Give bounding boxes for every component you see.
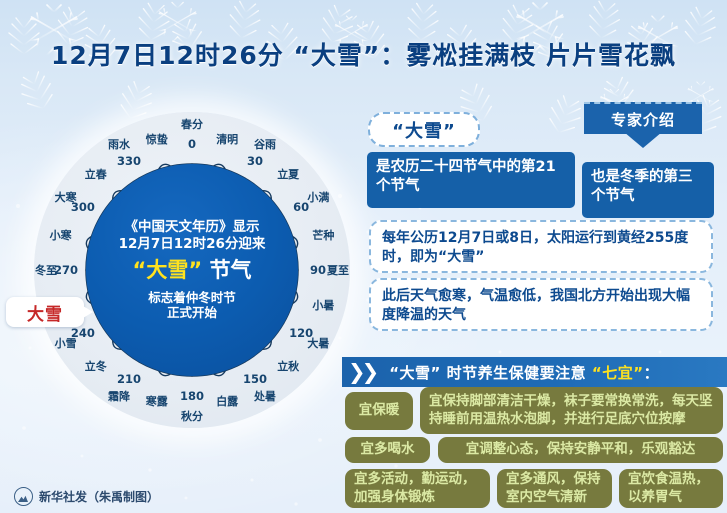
credit-block: 新华社发（朱禹制图）: [14, 487, 159, 506]
dial-degree-label: 330: [117, 154, 141, 168]
tip-text-2: 宜调整心态，保持安静平和，乐观豁达: [438, 437, 723, 463]
dial-center-headline-quoted: “大雪”: [133, 258, 203, 282]
dial-term-label: 立夏: [277, 166, 299, 182]
daxue-pill-label: “大雪”: [368, 112, 480, 147]
tip-text-5: 宜饮食温热，以养胃气: [619, 469, 723, 508]
dial-term-label: 白露: [216, 393, 238, 409]
daxue-red-callout-label: 大雪: [27, 300, 63, 325]
banner-text-post: ：: [644, 364, 660, 382]
infographic-poster: 12月7日12时26分 “大雪”：雾凇挂满枝 片片雪花飘 《中国天文年历》显示 …: [0, 0, 727, 513]
fact-box-4: 此后天气愈寒，气温愈低，我国北方开始出现大幅度降温的天气: [369, 278, 713, 331]
dial-term-label: 立秋: [277, 358, 299, 374]
dial-degree-label: 300: [71, 200, 95, 214]
credit-text: 新华社发（朱禹制图）: [39, 488, 159, 505]
tip-text-4: 宜多通风，保持室内空气清新: [497, 469, 612, 508]
dial-degree-label: 180: [180, 389, 204, 403]
dial-center-line1: 《中国天文年历》显示: [125, 219, 260, 235]
dial-degree-label: 0: [188, 137, 196, 151]
dial-term-label: 秋分: [181, 408, 203, 424]
dial-degree-label: 120: [289, 326, 313, 340]
dial-degree-label: 210: [117, 372, 141, 386]
dial-center-line2: 12月7日12时26分迎来: [119, 236, 266, 252]
xinhua-logo-icon: [14, 487, 33, 506]
expert-intro-tag: 专家介绍: [584, 102, 702, 154]
chevron-right-icon: ❯❯: [348, 362, 375, 383]
dial-term-label: 谷雨: [254, 136, 276, 152]
dial-degree-label: 90: [310, 263, 326, 277]
dial-degree-label: 270: [54, 263, 78, 277]
page-title: 12月7日12时26分 “大雪”：雾凇挂满枝 片片雪花飘: [51, 36, 676, 72]
tip-text-1: 宜保持脚部清洁干燥，袜子要常换常洗，每天坚持睡前用温热水泡脚，并进行足底穴位按摩: [420, 387, 723, 434]
fact-box-1: 是农历二十四节气中的第21个节气: [367, 152, 575, 208]
dial-term-label: 夏至: [327, 262, 349, 278]
dial-degree-label: 60: [293, 200, 309, 214]
dial-center-line4: 标志着仲冬时节: [148, 290, 236, 305]
dial-center-line5: 正式开始: [167, 305, 217, 320]
title-bar: 12月7日12时26分 “大雪”：雾凇挂满枝 片片雪花飘: [0, 18, 727, 90]
expert-intro-box: 专家介绍: [584, 102, 702, 134]
dial-term-label: 立冬: [85, 358, 107, 374]
health-tips-banner: ❯❯ “大雪” 时节养生保健要注意 “七宜”：: [342, 357, 727, 387]
expert-intro-triangle: [624, 132, 662, 148]
dial-degree-label: 150: [243, 372, 267, 386]
solar-terms-dial: 《中国天文年历》显示 12月7日12时26分迎来 “大雪” 节气 标志着仲冬时节…: [24, 106, 354, 456]
dial-center-headline-rest: 节气: [202, 258, 251, 282]
fact-box-2: 也是冬季的第三个节气: [582, 162, 714, 218]
right-info-column: “大雪” 专家介绍 是农历二十四节气中的第21个节气 也是冬季的第三个节气 每年…: [360, 104, 718, 360]
health-tips-banner-text: “大雪” 时节养生保健要注意 “七宜”：: [389, 362, 659, 383]
dial-center-headline: “大雪” 节气: [133, 258, 252, 284]
dial-term-label: 小寒: [50, 227, 72, 243]
dial-term-label: 小暑: [312, 297, 334, 313]
dial-term-label: 清明: [216, 131, 238, 147]
dial-term-label: 寒露: [146, 393, 168, 409]
dial-center-text: 《中国天文年历》显示 12月7日12时26分迎来 “大雪” 节气 标志着仲冬时节…: [86, 164, 298, 376]
daxue-pill-text: “大雪”: [392, 117, 456, 143]
banner-text-highlight: “七宜”: [592, 364, 644, 382]
dial-term-label: 霜降: [108, 388, 130, 404]
dial-degree-label: 240: [71, 326, 95, 340]
expert-intro-label: 专家介绍: [611, 109, 675, 130]
dial-term-label: 春分: [181, 116, 203, 132]
dial-term-label: 雨水: [108, 136, 130, 152]
dial-term-label: 芒种: [312, 227, 334, 243]
dial-term-label: 惊蛰: [146, 131, 168, 147]
tip-text-3: 宜多活动，勤运动，加强身体锻炼: [345, 469, 490, 508]
tip-label-1: 宜保暖: [345, 392, 413, 430]
dial-term-label: 立春: [85, 166, 107, 182]
banner-text-pre: “大雪” 时节养生保健要注意: [389, 364, 592, 382]
fact-box-3: 每年公历12月7日或8日，太阳运行到黄经255度时，即为“大雪”: [369, 220, 713, 273]
tip-label-2: 宜多喝水: [345, 437, 430, 463]
daxue-red-callout: 大雪: [6, 297, 84, 327]
dial-degree-label: 30: [247, 154, 263, 168]
dial-term-label: 处暑: [254, 388, 276, 404]
dial-term-label: 小满: [307, 189, 329, 205]
